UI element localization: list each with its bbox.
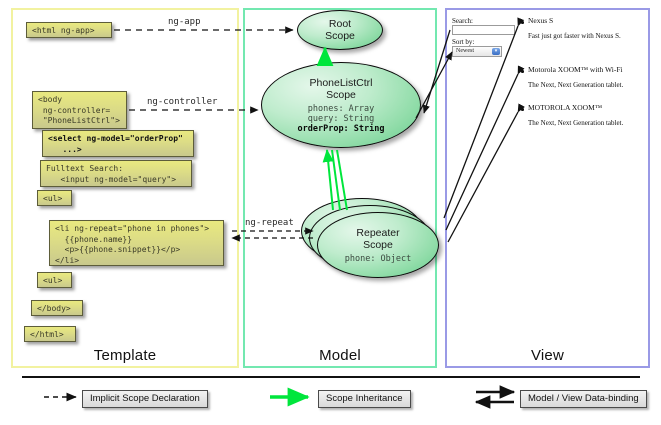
code-box-input-tag: Fulltext Search: <input ng-model="query"… xyxy=(40,160,192,187)
code-box-select-tag: <select ng-model="orderProp" ...> xyxy=(42,130,194,157)
view-phone-snippet: The Next, Next Generation tablet. xyxy=(528,81,623,89)
view-phone-bullet xyxy=(521,108,524,111)
legend-divider xyxy=(22,376,640,378)
code-box-body-close-tag: </body> xyxy=(31,300,83,316)
root-scope-title-line1: Root xyxy=(329,18,351,30)
ellipse-repeater-scope: Repeater Scope phone: Object xyxy=(317,212,439,278)
view-sort-selected-value: Newest xyxy=(456,48,474,54)
view-phone-name[interactable]: MOTOROLA XOOM™ xyxy=(528,103,602,112)
angularjs-scope-diagram: Template Model View <html ng-app> <body … xyxy=(0,0,661,425)
repeater-scope-title-line2: Scope xyxy=(363,239,393,251)
view-sort-select[interactable]: Newest ▾ xyxy=(452,46,502,57)
view-phone-bullet xyxy=(521,70,524,73)
phonelist-scope-prop-orderprop: orderProp: String xyxy=(298,124,385,134)
view-phone-snippet: Fast just got faster with Nexus S. xyxy=(528,32,621,40)
view-phone-name[interactable]: Nexus S xyxy=(528,16,553,25)
repeater-scope-prop-phone: phone: Object xyxy=(345,254,412,264)
connector-label-ng-controller: ng-controller xyxy=(147,97,217,107)
chevron-down-icon: ▾ xyxy=(492,48,500,55)
column-label-template: Template xyxy=(13,347,237,364)
phonelist-scope-title-line2: Scope xyxy=(326,89,356,101)
ellipse-root-scope: Root Scope xyxy=(297,10,383,50)
view-phone-bullet xyxy=(521,21,524,24)
code-box-ul-open-tag: <ul> xyxy=(37,190,72,206)
code-box-ul-close-tag: <ul> xyxy=(37,272,72,288)
repeater-scope-title-line1: Repeater xyxy=(356,227,399,239)
view-search-label: Search: xyxy=(452,17,473,25)
connector-label-ng-app: ng-app xyxy=(168,17,201,27)
code-box-html-close-tag: </html> xyxy=(24,326,76,342)
code-box-li-repeat-tag: <li ng-repeat="phone in phones"> {{phone… xyxy=(49,220,224,266)
legend-item-implicit-scope-declaration: Implicit Scope Declaration xyxy=(82,390,208,408)
legend-item-scope-inheritance: Scope Inheritance xyxy=(318,390,411,408)
view-search-input[interactable] xyxy=(452,25,515,35)
column-label-model: Model xyxy=(245,347,435,364)
view-phone-name[interactable]: Motorola XOOM™ with Wi-Fi xyxy=(528,65,623,74)
view-sort-label: Sort by: xyxy=(452,38,474,46)
phonelist-scope-prop-query: query: String xyxy=(308,114,375,124)
phonelist-scope-title-line1: PhoneListCtrl xyxy=(309,77,372,89)
code-box-html-tag: <html ng-app> xyxy=(26,22,112,38)
connector-label-ng-repeat: ng-repeat xyxy=(245,218,294,228)
root-scope-title-line2: Scope xyxy=(325,30,355,42)
column-label-view: View xyxy=(447,347,648,364)
view-phone-snippet: The Next, Next Generation tablet. xyxy=(528,119,623,127)
column-view: View xyxy=(445,8,650,368)
ellipse-phonelistctrl-scope: PhoneListCtrl Scope phones: Array query:… xyxy=(261,62,421,148)
code-box-body-tag: <body ng-controller= "PhoneListCtrl"> xyxy=(32,91,127,129)
phonelist-scope-prop-phones: phones: Array xyxy=(308,104,375,114)
legend-item-model-view-data-binding: Model / View Data-binding xyxy=(520,390,647,408)
